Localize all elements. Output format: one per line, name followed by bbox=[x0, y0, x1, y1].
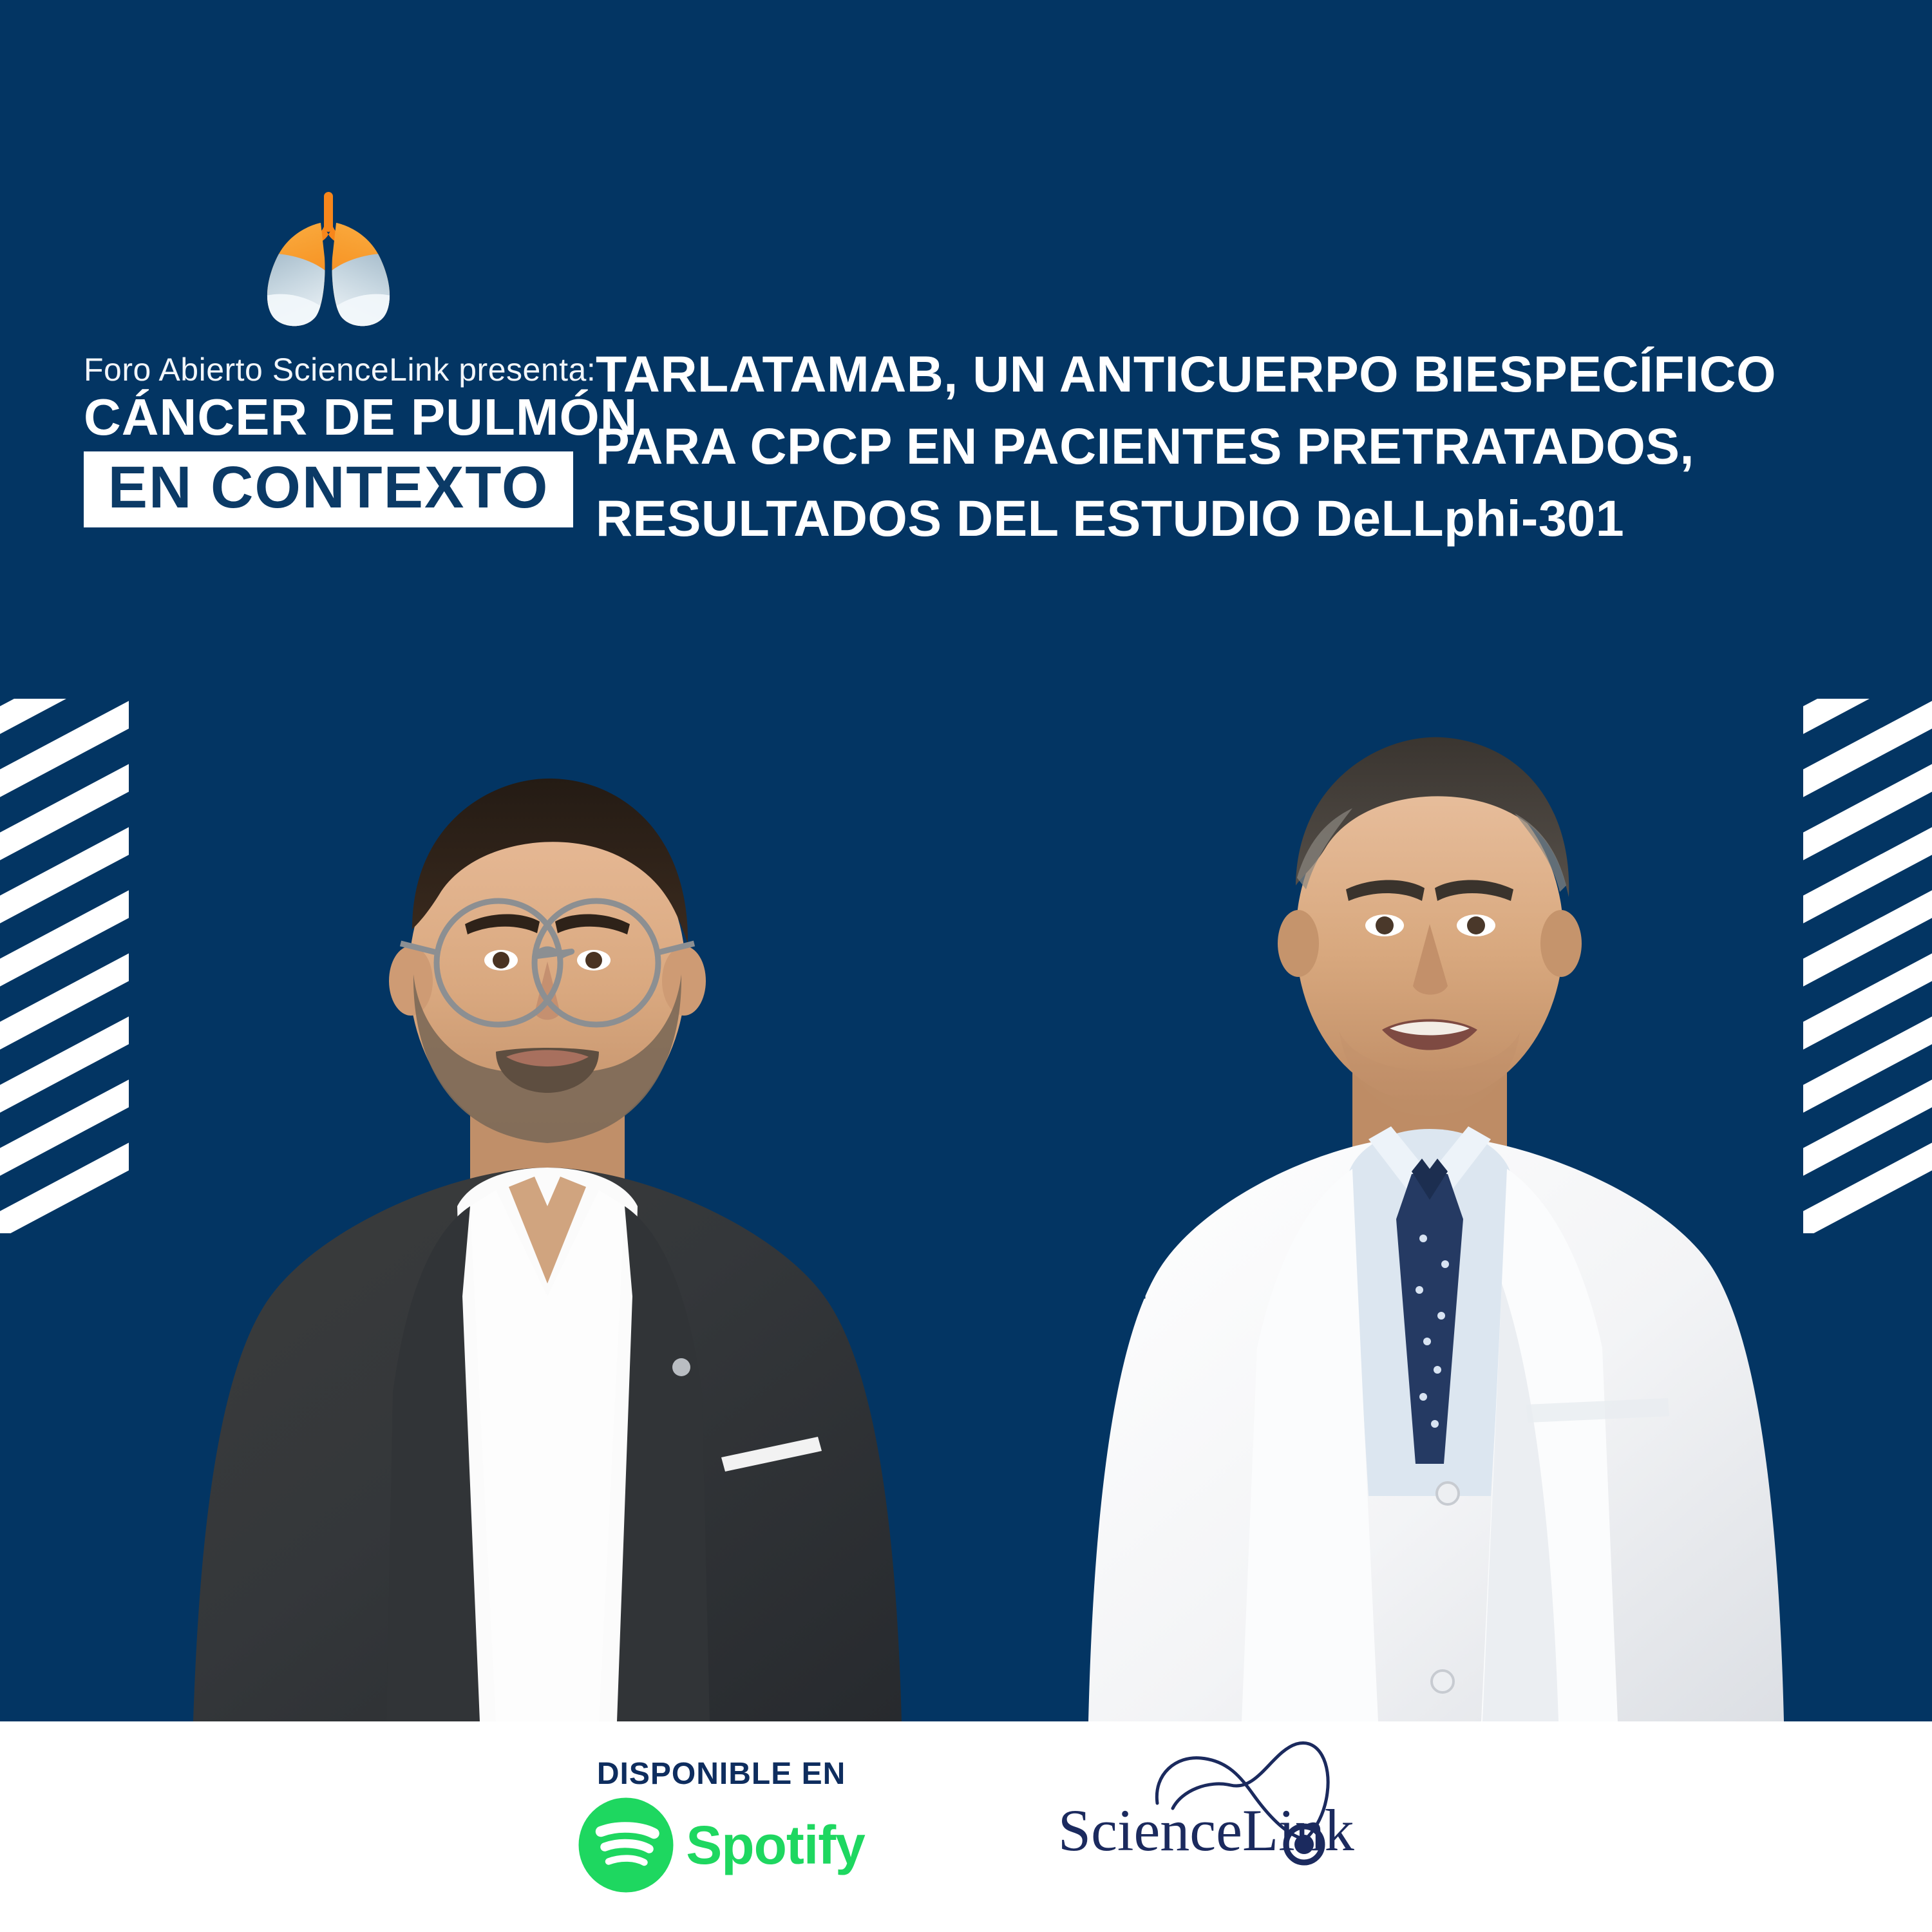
program-tag-box: EN CONTEXTO bbox=[84, 451, 573, 527]
spotify-wordmark[interactable]: Spotify bbox=[686, 1818, 865, 1872]
lungs-icon bbox=[251, 180, 406, 341]
program-tag: EN CONTEXTO bbox=[94, 458, 563, 517]
spotify-availability-block[interactable]: DISPONIBLE EN Spotify bbox=[578, 1756, 865, 1893]
presenta-label: Foro Abierto ScienceLink presenta: bbox=[84, 353, 573, 387]
footer-bar: DISPONIBLE EN Spotify ScienceLink bbox=[0, 1721, 1932, 1932]
host-portrait bbox=[109, 717, 985, 1721]
spotify-logo[interactable]: Spotify bbox=[578, 1797, 865, 1893]
spotify-icon[interactable] bbox=[578, 1797, 674, 1893]
brand-block: Foro Abierto ScienceLink presenta: CÁNCE… bbox=[84, 180, 573, 527]
sciencelink-logo[interactable]: ScienceLink bbox=[1058, 1801, 1354, 1860]
episode-title: TARLATAMAB, UN ANTICUERPO BIESPECÍFICO P… bbox=[596, 338, 1884, 555]
guest-portrait bbox=[1018, 685, 1855, 1721]
header-section: Foro Abierto ScienceLink presenta: CÁNCE… bbox=[0, 0, 1932, 676]
disponible-label: DISPONIBLE EN bbox=[597, 1756, 846, 1792]
title-line-3: RESULTADOS DEL ESTUDIO DeLLphi-301 bbox=[596, 482, 1884, 554]
podcast-promo-poster: Foro Abierto ScienceLink presenta: CÁNCE… bbox=[0, 0, 1932, 1932]
sciencelink-wordmark[interactable]: ScienceLink bbox=[1058, 1801, 1354, 1860]
title-line-2: PARA CPCP EN PACIENTES PRETRATADOS, bbox=[596, 410, 1884, 482]
program-name: CÁNCER DE PULMÓN bbox=[84, 387, 573, 448]
title-line-1: TARLATAMAB, UN ANTICUERPO BIESPECÍFICO bbox=[596, 338, 1884, 410]
